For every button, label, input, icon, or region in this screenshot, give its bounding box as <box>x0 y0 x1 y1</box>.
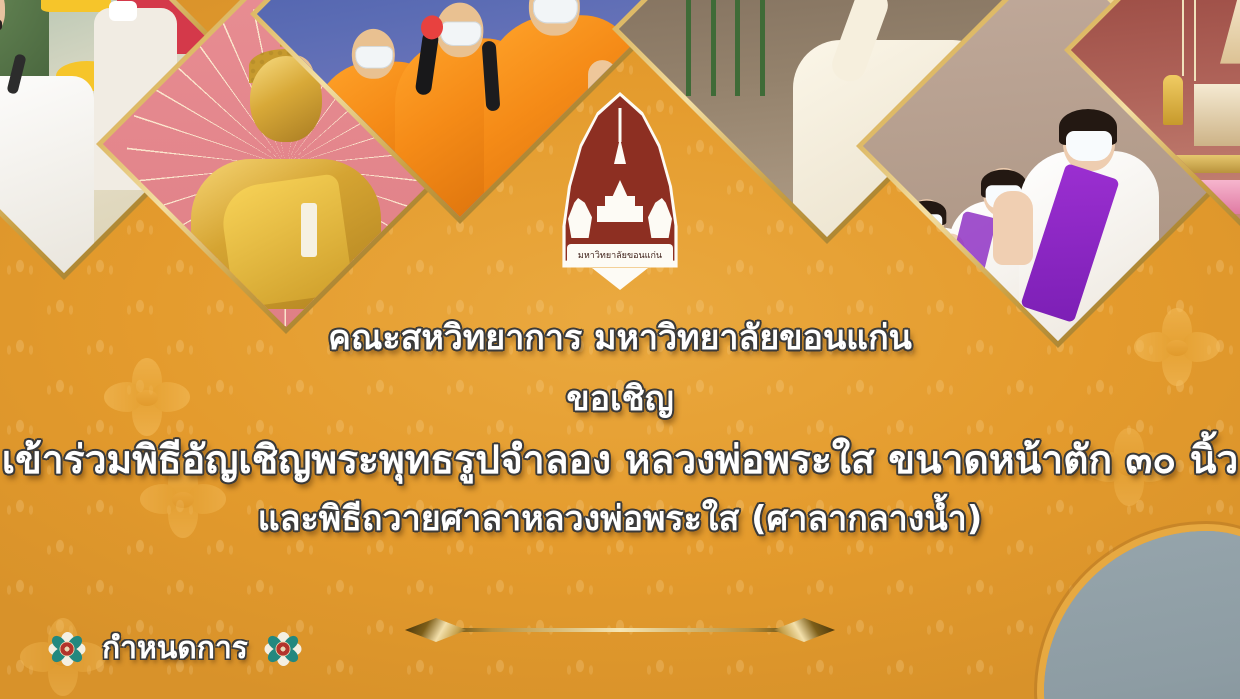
event-line-1: เข้าร่วมพิธีอัญเชิญพระพุทธรูปจำลอง หลวงพ… <box>0 437 1240 485</box>
agenda-label: กำหนดการ <box>102 625 248 672</box>
event-line-2: และพิธีถวายศาลาหลวงพ่อพระใส (ศาลากลางน้ำ… <box>0 499 1240 540</box>
invite-word: ขอเชิญ <box>0 379 1240 420</box>
emblem-foot <box>592 268 648 290</box>
cross-stitch-flower-left-icon <box>50 632 84 666</box>
divider-gem-left-icon <box>405 618 467 642</box>
emblem-caption: มหาวิทยาลัยขอนแก่น <box>578 248 662 262</box>
invitation-text-block: คณะสหวิทยาการ มหาวิทยาลัยขอนแก่น ขอเชิญ … <box>0 318 1240 540</box>
emblem-nameplate: มหาวิทยาลัยขอนแก่น <box>567 244 673 266</box>
agenda-row: กำหนดการ <box>50 625 300 672</box>
lotus-shape <box>1044 531 1240 699</box>
cross-stitch-flower-right-icon <box>266 632 300 666</box>
pavilion-sky <box>1044 531 1240 699</box>
divider-bar <box>451 628 789 632</box>
kku-emblem: มหาวิทยาลัยขอนแก่น <box>552 96 688 292</box>
gold-diamond-divider <box>405 617 835 643</box>
pagoda-icon <box>598 108 642 228</box>
invitation-poster: มหาวิทยาลัยขอนแก่น คณะสหวิทยาการ มหาวิทย… <box>0 0 1240 699</box>
organization-line: คณะสหวิทยาการ มหาวิทยาลัยขอนแก่น <box>0 318 1240 359</box>
divider-gem-right-icon <box>773 618 835 642</box>
